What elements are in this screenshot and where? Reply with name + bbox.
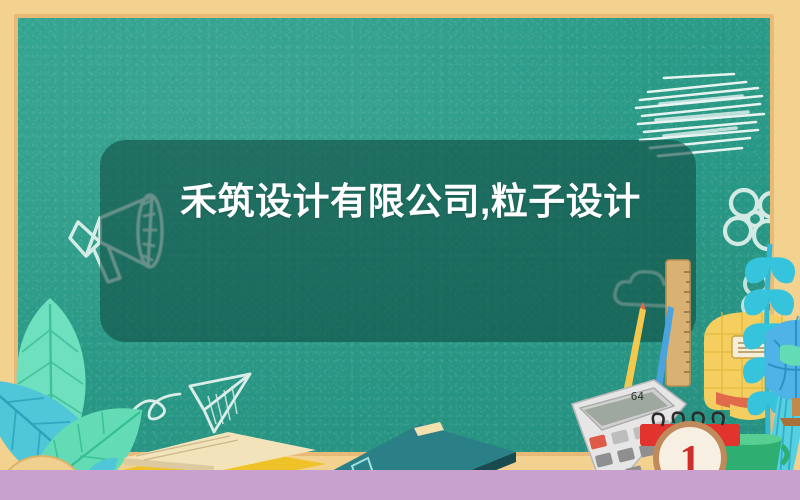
banner-image: 禾筑设计有限公司,粒子设计 [0, 0, 800, 500]
desk-lower-band [0, 470, 800, 500]
calculator-display: 64 [631, 390, 645, 403]
title-panel [100, 140, 696, 342]
page-title: 禾筑设计有限公司,粒子设计 [180, 178, 650, 225]
globe-icon [766, 316, 800, 426]
